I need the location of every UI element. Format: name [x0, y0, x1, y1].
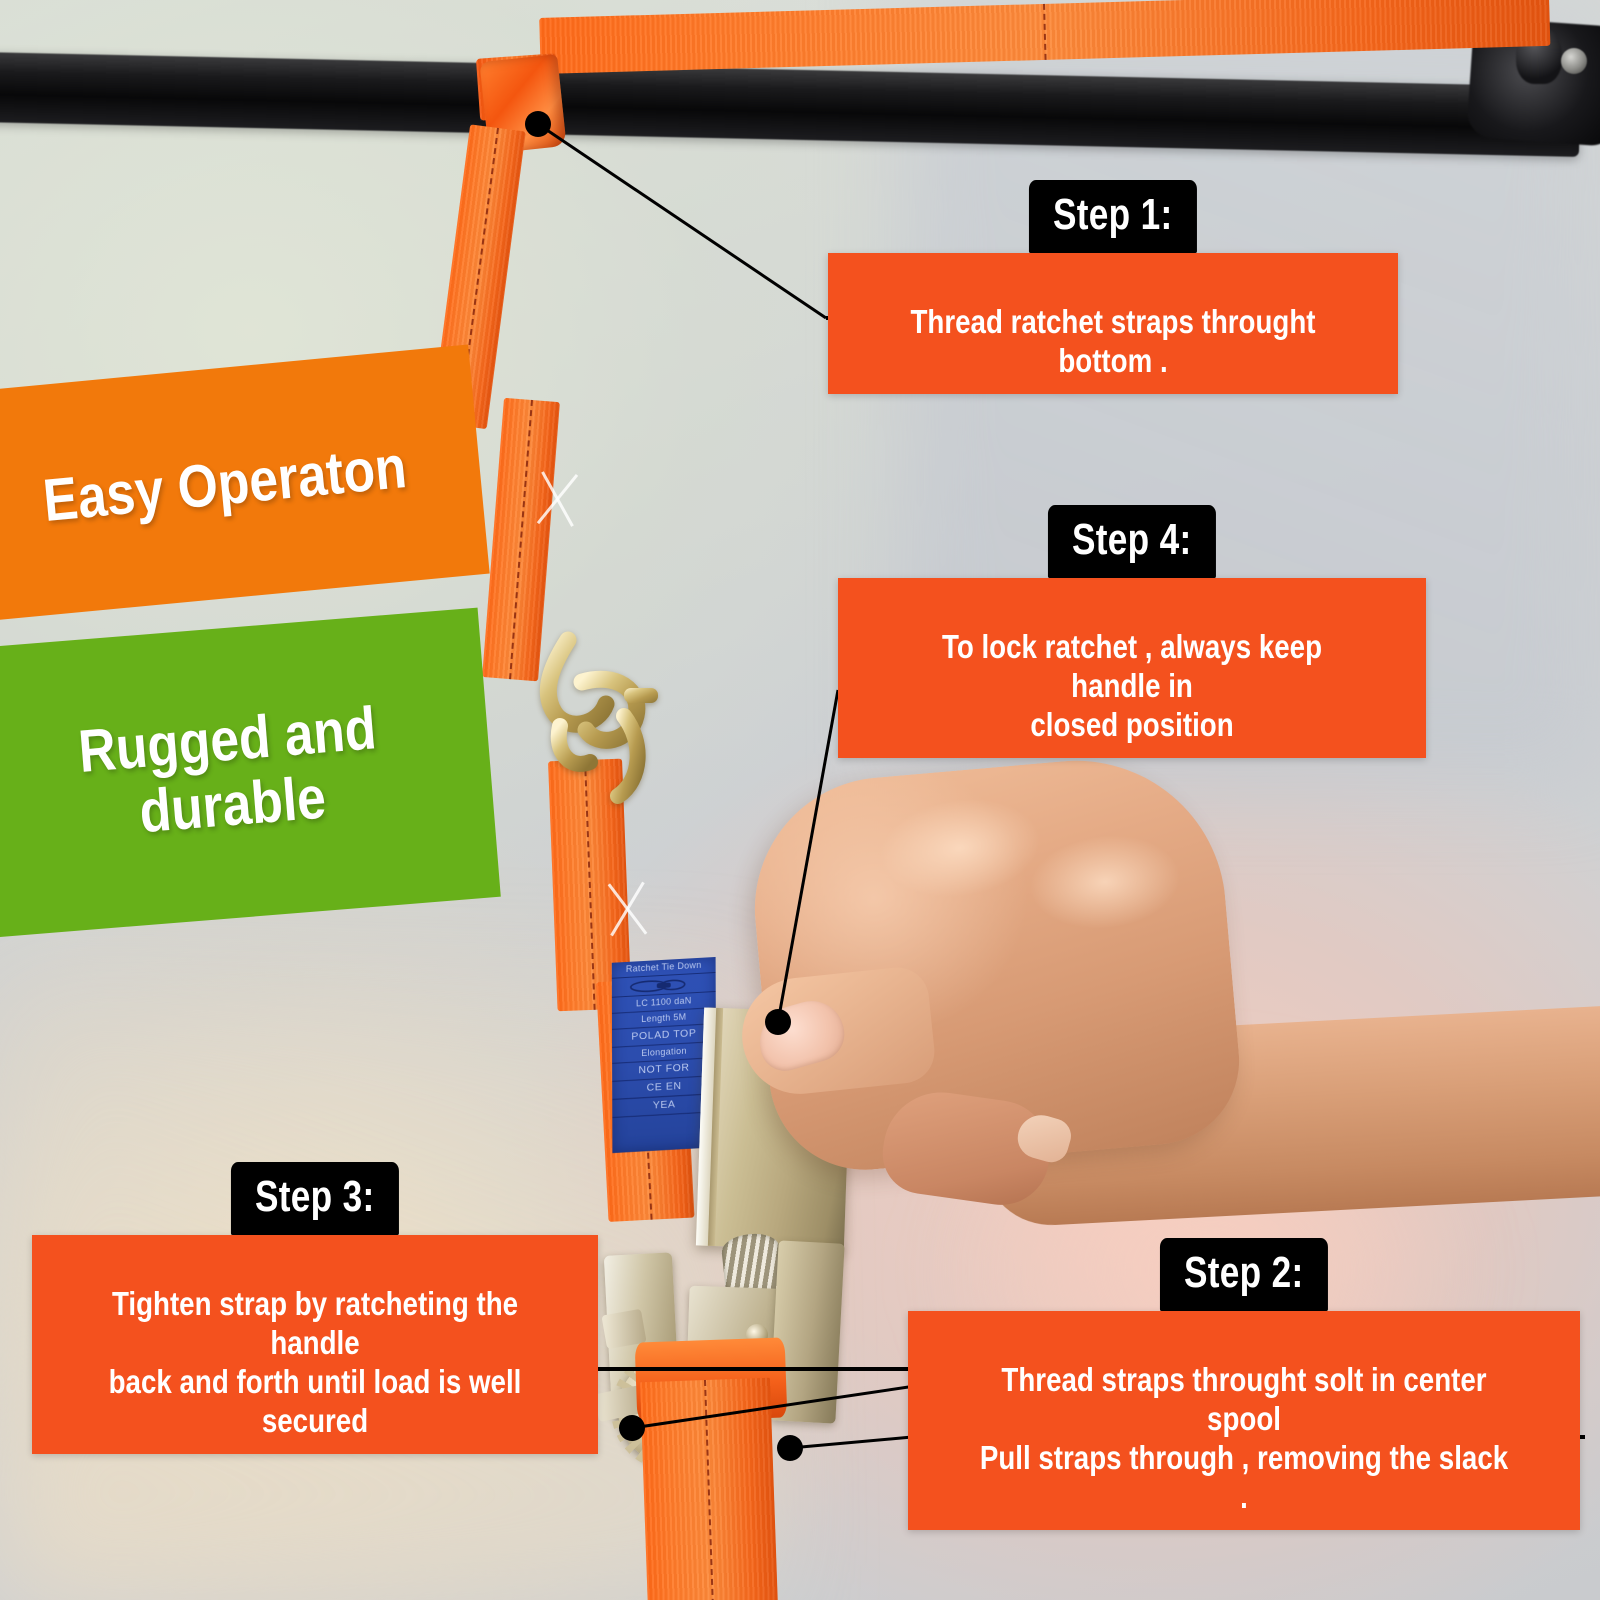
- callout-step-2-body: Thread straps throught solt in center sp…: [908, 1311, 1580, 1530]
- callout-step-2: Step 2: Thread straps throught solt in c…: [908, 1238, 1580, 1530]
- callout-step-3-tag-row: Step 3:: [32, 1162, 598, 1235]
- callout-step-3-body: Tighten strap by ratcheting the handle b…: [32, 1235, 598, 1454]
- strap-x-stitch-lower: [596, 877, 657, 942]
- s-hook-upper: [520, 630, 670, 830]
- feature-banner-easy-operation: Easy Operaton: [0, 345, 490, 622]
- callout-step-4-tag: Step 4:: [1048, 505, 1216, 578]
- callout-step-2-body-text: Thread straps throught solt in center sp…: [975, 1361, 1513, 1517]
- callout-step-3: Step 3: Tighten strap by ratcheting the …: [32, 1162, 598, 1454]
- callout-step-4-tag-row: Step 4:: [838, 505, 1426, 578]
- knuckle-highlight-2: [1026, 828, 1185, 935]
- callout-step-2-tag: Step 2:: [1160, 1238, 1328, 1311]
- strap-segment-bottom: [640, 1378, 778, 1600]
- strap-x-stitch-upper: [525, 466, 588, 533]
- callout-step-1-tag-row: Step 1:: [828, 180, 1398, 253]
- callout-step-1-tag: Step 1:: [1029, 180, 1197, 253]
- callout-step-4-body-text: To lock ratchet , always keep handle in …: [898, 628, 1365, 745]
- callout-step-1-body: Thread ratchet straps throught bottom .: [828, 253, 1398, 394]
- callout-step-1-body-text: Thread ratchet straps throught bottom .: [887, 303, 1339, 381]
- callout-step-3-body-text: Tighten strap by ratcheting the handle b…: [91, 1285, 540, 1441]
- feature-banner-easy-operation-text: Easy Operaton: [41, 435, 410, 532]
- callout-step-1: Step 1: Thread ratchet straps throught b…: [828, 180, 1398, 394]
- callout-step-3-tag: Step 3:: [231, 1162, 399, 1235]
- mounting-bar-bolt: [1561, 48, 1587, 74]
- feature-banner-rugged-durable: Rugged and durable: [0, 608, 501, 939]
- feature-banner-rugged-durable-text: Rugged and durable: [2, 690, 458, 855]
- callout-step-4: Step 4: To lock ratchet , always keep ha…: [838, 505, 1426, 758]
- callout-step-4-body: To lock ratchet , always keep handle in …: [838, 578, 1426, 758]
- callout-step-2-tag-row: Step 2:: [908, 1238, 1580, 1311]
- infographic-canvas: Ratchet Tie Down LC 1100 daN Length 5M P…: [0, 0, 1600, 1600]
